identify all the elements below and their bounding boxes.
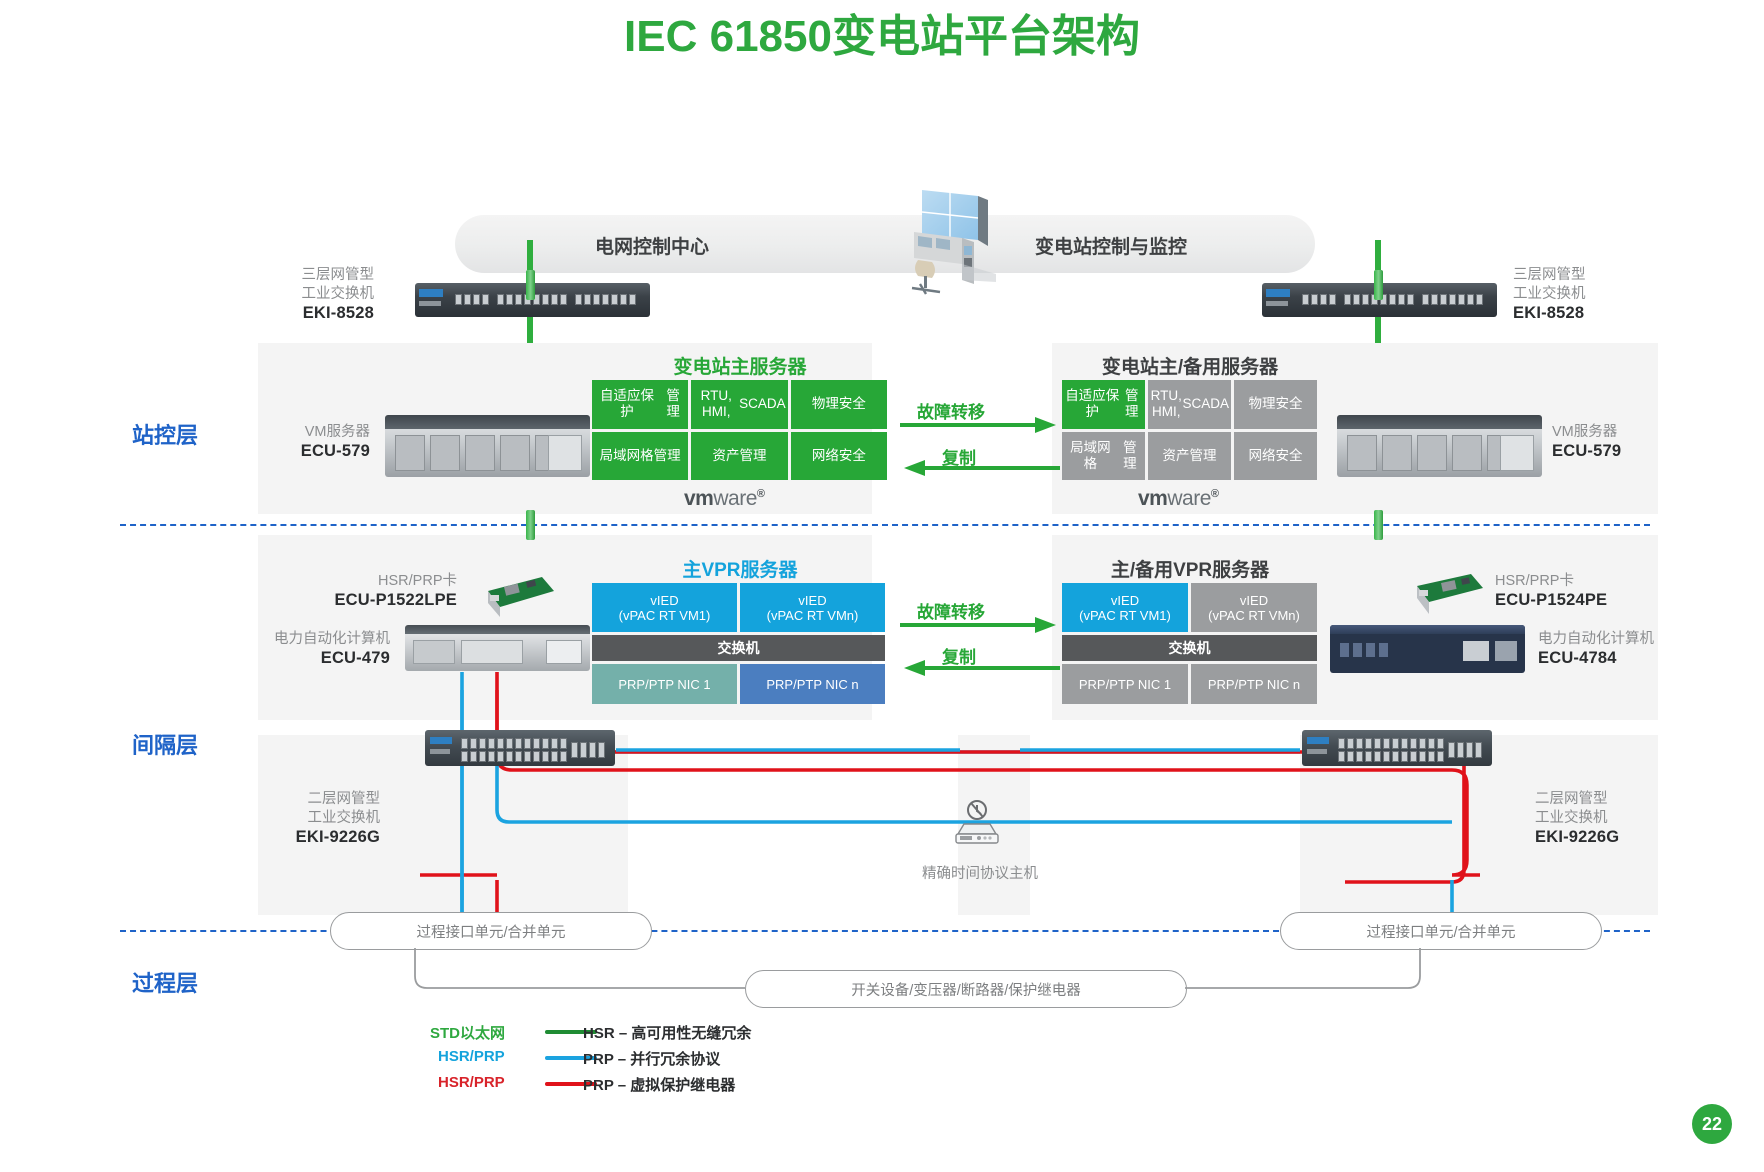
label-switch-l3-left: 三层网管型 工业交换机 EKI-8528 xyxy=(282,266,374,324)
module-cell[interactable]: 资产管理 xyxy=(1148,432,1231,481)
green-connector xyxy=(1374,270,1383,300)
server-ecu-579-right xyxy=(1337,415,1542,477)
legend-text-0: HSR – 高可用性无缝冗余 xyxy=(583,1022,751,1043)
vmware-logo-right: vmware® xyxy=(1138,487,1219,511)
module-cell[interactable]: 网络安全 xyxy=(791,432,887,481)
hsr-prp-card-right xyxy=(1407,572,1487,620)
module-cell[interactable]: 网络安全 xyxy=(1234,432,1317,481)
legend-code-0: STD以太网 xyxy=(430,1022,505,1043)
legend-code-2: HSR/PRP xyxy=(438,1074,505,1091)
label-switch-l3-right: 三层网管型 工业交换机 EKI-8528 xyxy=(1513,266,1623,324)
module-cell[interactable]: 物理安全 xyxy=(1234,380,1317,429)
module-cell[interactable]: 物理安全 xyxy=(791,380,887,429)
green-connector xyxy=(526,510,535,540)
module-cell[interactable]: 资产管理 xyxy=(691,432,787,481)
label-switch-l2-right: 二层网管型 工业交换机 EKI-9226G xyxy=(1535,790,1645,848)
module-cell[interactable]: 自适应保护管理 xyxy=(1062,380,1145,429)
label-switch-l2-left: 二层网管型 工业交换机 EKI-9226G xyxy=(280,790,380,848)
green-connector xyxy=(1374,510,1383,540)
vied-cell[interactable]: vIED (vPAC RT VM1) xyxy=(1062,583,1188,632)
page-number-badge: 22 xyxy=(1692,1104,1732,1144)
standby-vpr-title: 主/备用VPR服务器 xyxy=(1040,555,1340,582)
primary-server-modules: 自适应保护管理 RTU, HMI,SCADA 物理安全 局域网格管理 资产管理 … xyxy=(592,380,887,480)
switch-eki-9226g-right xyxy=(1302,730,1492,766)
switch-eki-9226g-left xyxy=(425,730,615,766)
layer-separator-1 xyxy=(120,524,1650,526)
primary-server-title: 变电站主服务器 xyxy=(590,352,890,379)
standby-server-modules: 自适应保护管理 RTU, HMI,SCADA 物理安全 局域网格管理 资产管理 … xyxy=(1062,380,1317,480)
server-ecu-579-left xyxy=(385,415,590,477)
standby-server-title: 变电站主/备用服务器 xyxy=(1040,352,1340,379)
primary-vpr-title: 主VPR服务器 xyxy=(590,555,890,582)
vied-cell[interactable]: vIED (vPAC RT VM1) xyxy=(592,583,737,632)
vmware-logo-left: vmware® xyxy=(684,487,765,511)
vied-cell[interactable]: vIED (vPAC RT VMn) xyxy=(1191,583,1317,632)
label-hsr-card-right: HSR/PRP卡 ECU-P1524PE xyxy=(1495,572,1665,611)
ptp-master-icon xyxy=(938,800,1016,850)
module-cell[interactable]: RTU, HMI,SCADA xyxy=(1148,380,1231,429)
legend-text-1: PRP – 并行冗余协议 xyxy=(583,1048,720,1069)
vied-cell[interactable]: vIED (vPAC RT VMn) xyxy=(740,583,885,632)
layer-label-station: 站控层 xyxy=(132,418,198,450)
label-hsr-card-left: HSR/PRP卡 ECU-P1522LPE xyxy=(292,572,457,611)
module-cell[interactable]: 局域网格管理 xyxy=(1062,432,1145,481)
page-title: IEC 61850变电站平台架构 xyxy=(0,0,1764,64)
legend-code-1: HSR/PRP xyxy=(438,1048,505,1065)
failover-arrows-station xyxy=(890,415,1070,485)
module-cell[interactable]: 局域网格管理 xyxy=(592,432,688,481)
green-connector xyxy=(526,270,535,300)
process-connectors xyxy=(0,940,1764,1010)
module-cell[interactable]: 自适应保护管理 xyxy=(592,380,688,429)
label-vm-server-right: VM服务器 ECU-579 xyxy=(1552,423,1662,462)
cable-drops xyxy=(0,880,1764,920)
legend-text-2: PRP – 虚拟保护继电器 xyxy=(583,1074,735,1095)
green-uplinks xyxy=(0,240,1764,360)
label-vm-server-left: VM服务器 ECU-579 xyxy=(270,423,370,462)
module-cell[interactable]: RTU, HMI,SCADA xyxy=(691,380,787,429)
diagram-canvas: IEC 61850变电站平台架构 电网控制中心 变电站控制与监控 xyxy=(0,0,1764,1172)
hsr-prp-card-left xyxy=(480,575,558,621)
